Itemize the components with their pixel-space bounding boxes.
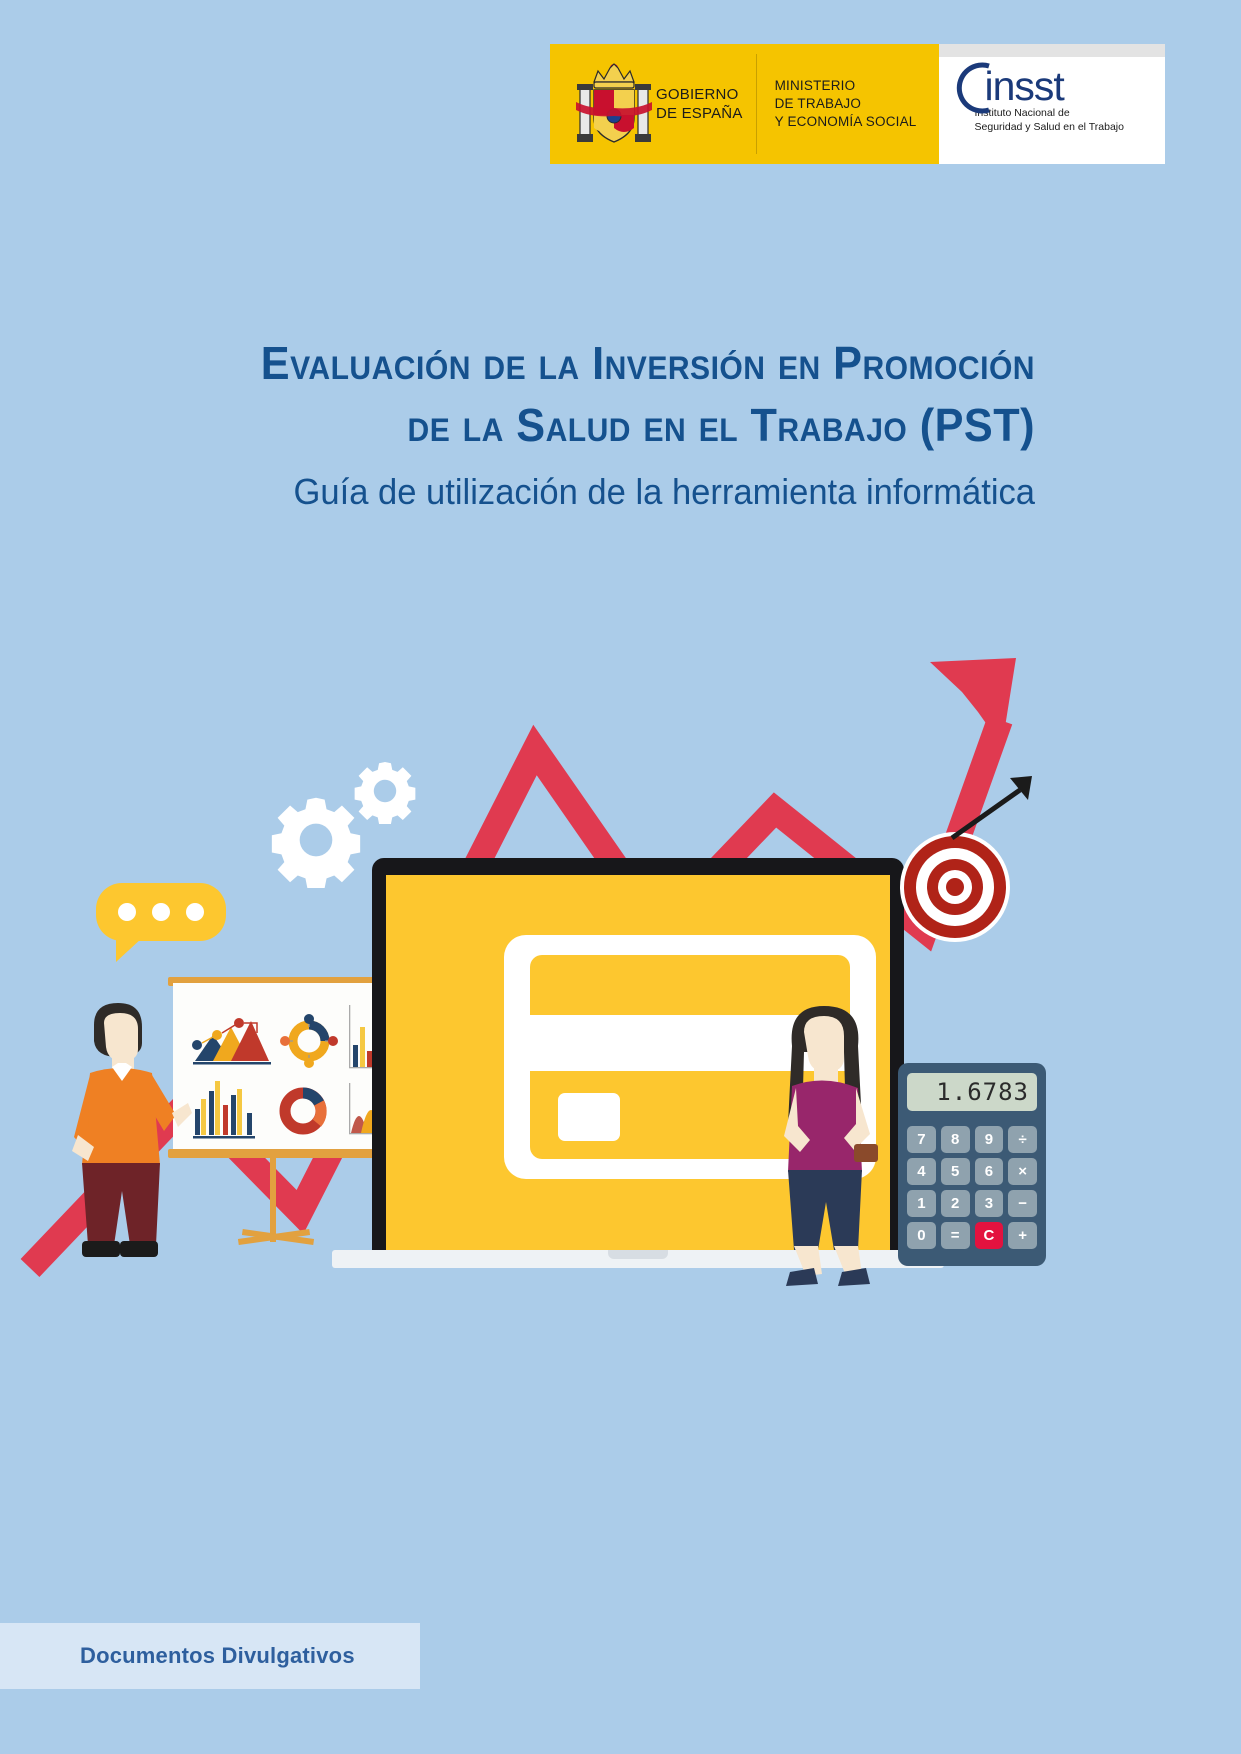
person-presenter-orange: [60, 995, 192, 1285]
cover-title-block: Evaluación de la Inversión en Promoción …: [60, 332, 1035, 518]
whiteboard-center-leg: [270, 1156, 276, 1242]
spain-coat-of-arms-icon: [572, 58, 656, 150]
donut-chart-bottom: [285, 1093, 321, 1129]
calc-key-equals[interactable]: =: [941, 1222, 970, 1249]
bubble-dot-1: [118, 903, 136, 921]
target-dartboard-icon: [900, 832, 1010, 942]
calculator-display: 1.6783: [907, 1073, 1037, 1111]
speech-bubble-icon: [96, 883, 226, 941]
ministerio-text-block: MINISTERIO DE TRABAJO Y ECONOMÍA SOCIAL: [775, 77, 917, 131]
gobierno-de-espana-logo: GOBIERNO DE ESPAÑA: [550, 44, 757, 164]
ministerio-line-2: DE TRABAJO: [775, 95, 917, 113]
bar-chart-top-right: [349, 1005, 373, 1068]
whiteboard-charts: [173, 983, 373, 1151]
cover-illustration: 1.6783 7 8 9 ÷ 4 5 6 × 1 2 3 − 0 = C +: [0, 600, 1241, 1400]
calc-key-multiply[interactable]: ×: [1008, 1158, 1037, 1185]
collection-label: Documentos Divulgativos: [80, 1643, 355, 1669]
ministerio-line-3: Y ECONOMÍA SOCIAL: [775, 113, 917, 131]
calc-key-plus[interactable]: +: [1008, 1222, 1037, 1249]
gobierno-line-2: DE ESPAÑA: [656, 104, 743, 123]
gear-icon-large: [268, 792, 364, 888]
gobierno-line-1: GOBIERNO: [656, 85, 743, 104]
bubble-dot-2: [152, 903, 170, 921]
person-woman-magenta: [766, 996, 886, 1296]
calculator-keypad[interactable]: 7 8 9 ÷ 4 5 6 × 1 2 3 − 0 = C +: [907, 1126, 1037, 1249]
ministerio-line-1: MINISTERIO: [775, 77, 917, 95]
whiteboard-panel: [173, 983, 373, 1151]
insst-subtitle-line-2: Seguridad y Salud en el Trabajo: [975, 121, 1159, 135]
cover-page: GOBIERNO DE ESPAÑA MINISTERIO DE TRABAJO…: [0, 0, 1241, 1754]
calc-key-3[interactable]: 3: [975, 1190, 1004, 1217]
page-title-line-2: de la Salud en el Trabajo (PST): [119, 394, 1036, 456]
calc-key-6[interactable]: 6: [975, 1158, 1004, 1185]
bubble-dot-3: [186, 903, 204, 921]
page-title-line-1: Evaluación de la Inversión en Promoción: [119, 332, 1036, 394]
card-chip: [558, 1093, 620, 1141]
page-subtitle: Guía de utilización de la herramienta in…: [99, 466, 1035, 518]
calc-key-divide[interactable]: ÷: [1008, 1126, 1037, 1153]
insst-logo-top-strip: [939, 44, 1165, 57]
calc-key-5[interactable]: 5: [941, 1158, 970, 1185]
institutional-logo-bar: GOBIERNO DE ESPAÑA MINISTERIO DE TRABAJO…: [550, 44, 1165, 164]
insst-subtitle-line-1: Instituto Nacional de: [975, 107, 1159, 121]
calc-key-clear[interactable]: C: [975, 1222, 1004, 1249]
calc-key-0[interactable]: 0: [907, 1222, 936, 1249]
calc-key-9[interactable]: 9: [975, 1126, 1004, 1153]
gobierno-text-block: GOBIERNO DE ESPAÑA: [656, 85, 743, 123]
insst-logo: insst Instituto Nacional de Seguridad y …: [939, 44, 1165, 164]
insst-logo-inner: insst Instituto Nacional de Seguridad y …: [953, 66, 1159, 134]
calc-key-minus[interactable]: −: [1008, 1190, 1037, 1217]
collection-banner: Documentos Divulgativos: [0, 1623, 420, 1689]
calc-key-2[interactable]: 2: [941, 1190, 970, 1217]
calc-key-1[interactable]: 1: [907, 1190, 936, 1217]
calculator-display-value: 1.6783: [936, 1078, 1029, 1106]
insst-arc-icon: [953, 62, 997, 114]
calc-key-4[interactable]: 4: [907, 1158, 936, 1185]
calculator-device: 1.6783 7 8 9 ÷ 4 5 6 × 1 2 3 − 0 = C +: [898, 1063, 1046, 1266]
ministerio-logo: MINISTERIO DE TRABAJO Y ECONOMÍA SOCIAL: [757, 44, 939, 164]
laptop-trackpad-notch: [608, 1250, 668, 1259]
bar-chart-bottom-left: [193, 1081, 255, 1139]
dart-arrow-icon: [894, 776, 1044, 906]
gear-icon-small: [352, 758, 418, 824]
calc-key-8[interactable]: 8: [941, 1126, 970, 1153]
calc-key-7[interactable]: 7: [907, 1126, 936, 1153]
mountain-area-chart: [192, 1018, 271, 1065]
donut-connector-chart: [280, 1014, 338, 1068]
area-chart-bottom-right: [349, 1083, 373, 1134]
